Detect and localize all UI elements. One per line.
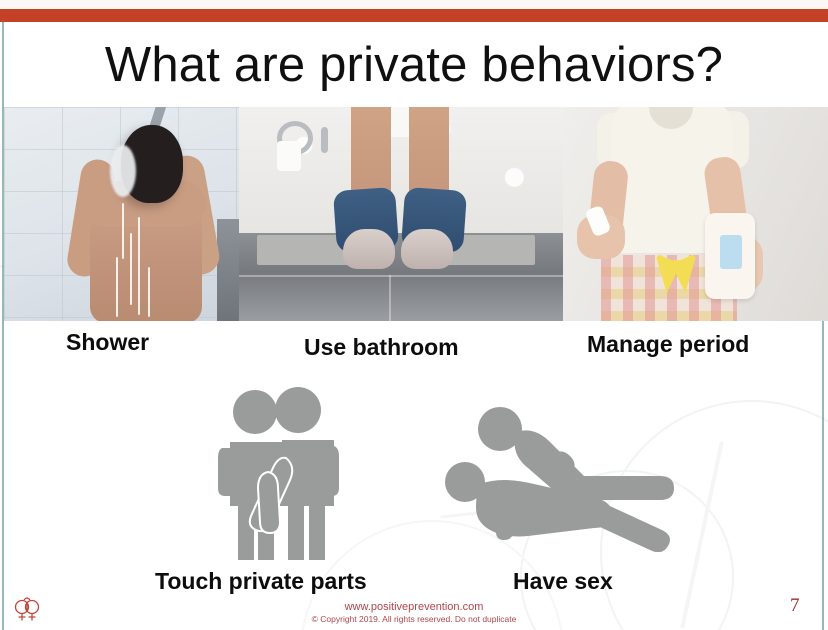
floor-seam xyxy=(239,275,563,277)
water-stream xyxy=(130,233,132,305)
title-band: What are private behaviors? xyxy=(4,22,824,107)
photo-row-labels: Shower Use bathroom Manage period xyxy=(4,325,828,367)
top-strip xyxy=(0,0,828,9)
footer-copyright: © Copyright 2019. All rights reserved. D… xyxy=(0,614,828,624)
water-stream xyxy=(148,267,150,317)
label-use-bathroom: Use bathroom xyxy=(304,334,459,361)
floor-seam xyxy=(389,275,391,321)
water-stream xyxy=(116,257,118,317)
person-holding-menstrual-pad-photo xyxy=(563,107,828,321)
wall-shadow xyxy=(217,219,239,321)
photo-row xyxy=(4,107,828,321)
toilet-paper-roll xyxy=(277,141,301,171)
shampoo-suds xyxy=(110,145,136,197)
two-standing-figures-icon xyxy=(212,386,352,562)
menstrual-pad-core xyxy=(720,235,742,269)
person-showering-photo xyxy=(4,107,239,321)
positive-prevention-logo xyxy=(10,596,44,624)
two-reclining-figures-icon xyxy=(438,402,694,552)
water-stream xyxy=(138,217,140,315)
slipper xyxy=(401,229,453,269)
slipper xyxy=(343,229,395,269)
page-number: 7 xyxy=(790,595,800,617)
wall-hook xyxy=(321,127,328,153)
accent-bar xyxy=(0,9,828,22)
water-stream xyxy=(122,203,124,259)
person-on-toilet-photo xyxy=(239,107,563,321)
page-title: What are private behaviors? xyxy=(105,37,723,93)
label-touch-private-parts: Touch private parts xyxy=(155,568,367,595)
label-manage-period: Manage period xyxy=(587,331,749,358)
label-shower: Shower xyxy=(66,329,149,356)
slide: What are private behaviors? xyxy=(0,0,828,630)
footer-website[interactable]: www.positiveprevention.com xyxy=(0,601,828,613)
label-have-sex: Have sex xyxy=(513,568,613,595)
